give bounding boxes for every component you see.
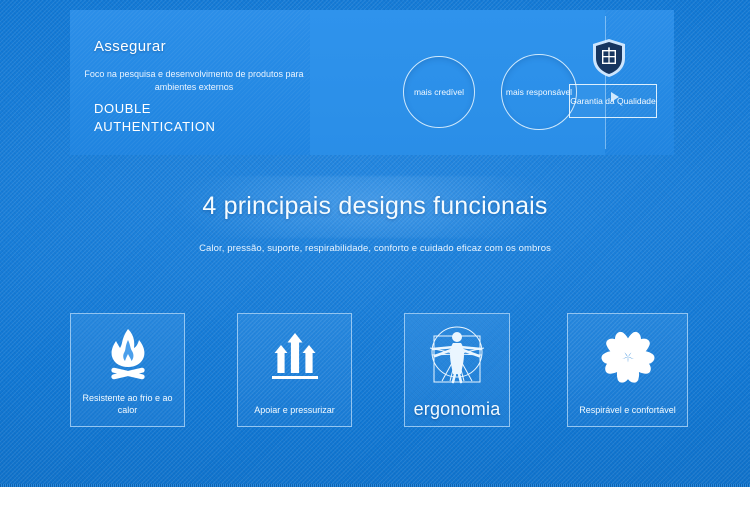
hero-panel: Assegurar Foco na pesquisa e desenvolvim…	[70, 10, 674, 155]
campfire-flame-icon	[71, 324, 184, 386]
section-subline: Calor, pressão, suporte, respirabilidade…	[0, 243, 750, 254]
hero-english-text: DOUBLE AUTHENTICATION	[94, 100, 304, 136]
hero-english-line-1: DOUBLE	[94, 100, 304, 118]
circle-badge-credible: mais credível	[403, 56, 475, 128]
heart-flower-icon	[568, 324, 687, 386]
circle-badge-responsible: mais responsável	[501, 54, 577, 130]
circle-label-2: mais responsável	[506, 86, 572, 98]
feature-card-heat-resistant[interactable]: Resistente ao frio e ao calor	[70, 313, 185, 427]
feature-card-caption: Resistente ao frio e ao calor	[75, 392, 180, 416]
feature-card-caption: Respirável e confortável	[572, 404, 683, 416]
feature-card-support-pressure[interactable]: Apoiar e pressurizar	[237, 313, 352, 427]
section-headline: 4 principais designs funcionais	[0, 192, 750, 221]
quality-badge-label: Garantia da Qualidade	[570, 95, 656, 107]
hero-subtitle: Foco na pesquisa e desenvolvimento de pr…	[82, 68, 306, 94]
quality-badge-block: Garantia da Qualidade	[605, 10, 674, 155]
poster-stage: Assegurar Foco na pesquisa e desenvolvim…	[0, 0, 750, 511]
hero-text-block: Assegurar Foco na pesquisa e desenvolvim…	[70, 10, 310, 155]
feature-card-caption: ergonomia	[409, 398, 505, 420]
circle-label-1: mais credível	[414, 86, 464, 98]
feature-card-breathable[interactable]: Respirável e confortável	[567, 313, 688, 427]
quality-badge-label-box: Garantia da Qualidade	[569, 84, 657, 118]
hero-english-line-2: AUTHENTICATION	[94, 118, 304, 136]
hero-title: Assegurar	[94, 38, 166, 55]
circles-block: mais credível mais responsável	[310, 10, 605, 155]
feature-card-ergonomics[interactable]: ergonomia	[404, 313, 510, 427]
shield-icon	[591, 38, 627, 78]
up-arrows-icon	[238, 324, 351, 386]
feature-card-caption: Apoiar e pressurizar	[242, 404, 347, 416]
vitruvian-man-icon	[405, 324, 509, 386]
